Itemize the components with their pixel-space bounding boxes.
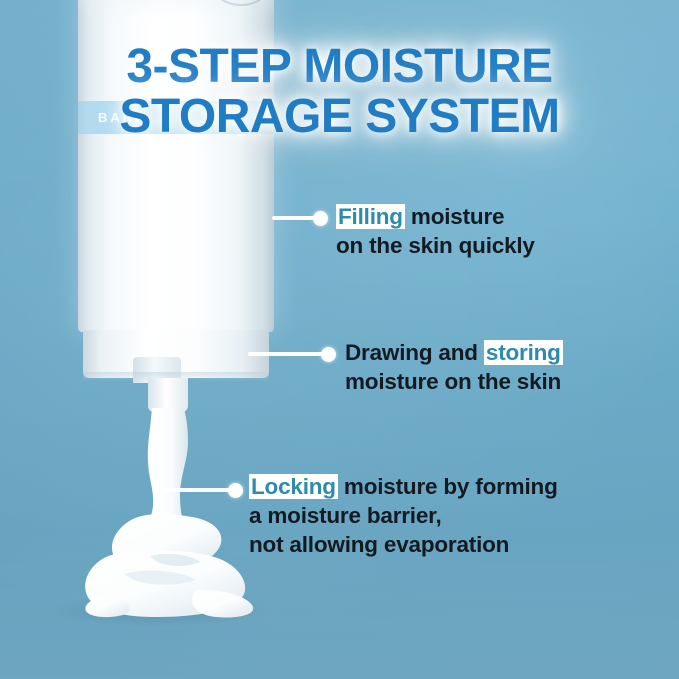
product-tube-image: MLE BARR bbox=[0, 0, 300, 660]
leader-line-2 bbox=[248, 352, 328, 356]
callout-locking-line-3: not allowing evaporation bbox=[249, 531, 558, 560]
callout-storing-prefix: Drawing and bbox=[345, 340, 484, 365]
callout-locking-rest: moisture by forming bbox=[338, 474, 558, 499]
leader-dot-1 bbox=[313, 211, 328, 226]
callout-locking-highlight: Locking bbox=[249, 474, 338, 499]
leader-dot-2 bbox=[321, 347, 336, 362]
callout-storing-line-2: moisture on the skin bbox=[345, 368, 563, 397]
callout-locking: Locking moisture by forming a moisture b… bbox=[249, 473, 558, 559]
callout-storing: Drawing and storing moisture on the skin bbox=[345, 339, 563, 397]
leader-dot-3 bbox=[228, 483, 243, 498]
cream-extrusion bbox=[0, 0, 300, 660]
callout-filling-highlight: Filling bbox=[336, 204, 405, 229]
leader-line-3 bbox=[163, 488, 235, 492]
poster-canvas: MLE BARR bbox=[0, 0, 679, 679]
callout-filling-rest: moisture bbox=[405, 204, 504, 229]
callout-storing-line-1: Drawing and storing bbox=[345, 339, 563, 368]
callout-filling: Filling moisture on the skin quickly bbox=[336, 203, 535, 261]
callout-locking-line-1: Locking moisture by forming bbox=[249, 473, 558, 502]
callout-filling-line-1: Filling moisture bbox=[336, 203, 535, 232]
callout-locking-line-2: a moisture barrier, bbox=[249, 502, 558, 531]
callout-storing-highlight: storing bbox=[484, 340, 563, 365]
callout-filling-line-2: on the skin quickly bbox=[336, 232, 535, 261]
